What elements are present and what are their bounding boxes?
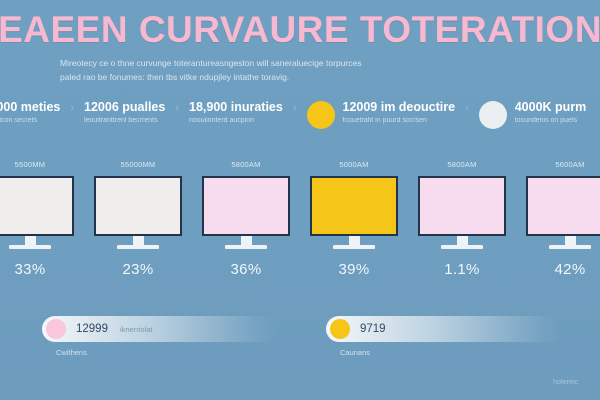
monitor-item: 5500MM 33% (0, 160, 78, 278)
summary-pill-row: 12999 iknerriolat Cwithens 9719 Caunans (42, 316, 562, 357)
chevron-right-icon: › (465, 102, 469, 114)
monitor-percent: 36% (231, 261, 262, 278)
stats-row: 1,000 meties tentitcon secrets › 12006 p… (0, 100, 600, 129)
monitor-label: 5500MM (15, 160, 45, 169)
summary-pill-group: 12999 iknerriolat Cwithens (42, 316, 278, 357)
stat-value: 4000K purm (515, 100, 587, 115)
stat-label: noouiionterd aucpion (189, 116, 283, 126)
chevron-right-icon: › (70, 102, 74, 114)
monitor-neck (457, 236, 468, 245)
summary-pill: 12999 iknerriolat (42, 316, 278, 342)
monitor-icon (202, 176, 290, 249)
stat-value: 12006 pualles (84, 100, 165, 115)
monitor-item: 55000MM 23% (90, 160, 186, 278)
monitor-base (549, 245, 591, 249)
page-subtitle: Mireotecy ce o thne curvunge toteranture… (60, 56, 540, 84)
monitor-neck (565, 236, 576, 245)
monitor-neck (241, 236, 252, 245)
chevron-right-icon: › (293, 102, 297, 114)
monitor-base (333, 245, 375, 249)
stat-item: 12006 pualles leouitranttrenl becrrents (84, 100, 165, 126)
stat-item: 12009 im deouctire fcouetrafit in puurd … (307, 100, 456, 129)
stat-text: 1,000 meties tentitcon secrets (0, 100, 60, 126)
monitor-screen (0, 176, 74, 236)
stat-label: tentitcon secrets (0, 116, 60, 126)
white-circle-icon (479, 101, 507, 129)
pill-caption: Caunans (340, 348, 562, 357)
monitor-item: 5800AM 36% (198, 160, 294, 278)
pill-value: 9719 (360, 323, 386, 335)
chevron-right-icon: › (175, 102, 179, 114)
pink-circle-icon (46, 319, 66, 339)
monitor-screen (202, 176, 290, 236)
monitor-base (225, 245, 267, 249)
pill-note: iknerriolat (120, 325, 153, 334)
stat-text: 18,900 inuraties noouiionterd aucpion (189, 100, 283, 126)
yellow-circle-icon (330, 319, 350, 339)
monitor-item: 5800AM 1.1% (414, 160, 510, 278)
monitor-percent: 23% (123, 261, 154, 278)
monitor-percent: 42% (555, 261, 586, 278)
monitor-label: 5000AM (339, 160, 368, 169)
monitor-base (9, 245, 51, 249)
subtitle-line-2: paled rao be fonumes: then tbs vitke ndu… (60, 70, 540, 84)
pill-caption: Cwithens (56, 348, 278, 357)
monitor-icon (310, 176, 398, 249)
footer-text: hofereic (553, 379, 578, 386)
monitor-neck (25, 236, 36, 245)
yellow-circle-icon (307, 101, 335, 129)
monitor-base (441, 245, 483, 249)
summary-pill: 9719 (326, 316, 562, 342)
stat-text: 12009 im deouctire fcouetrafit in puurd … (343, 100, 456, 126)
infographic-canvas: EAEEN CURVAURE TOTERATION Mireotecy ce o… (0, 0, 600, 400)
monitor-screen (310, 176, 398, 236)
stat-value: 18,900 inuraties (189, 100, 283, 115)
monitor-icon (418, 176, 506, 249)
stat-item: 1,000 meties tentitcon secrets (0, 100, 60, 126)
monitor-label: 5800AM (231, 160, 260, 169)
monitor-label: 5600AM (555, 160, 584, 169)
stat-label: tocundenis on puels (515, 116, 587, 126)
stat-item: 18,900 inuraties noouiionterd aucpion (189, 100, 283, 126)
monitor-percent: 33% (15, 261, 46, 278)
monitor-icon (526, 176, 600, 249)
stat-label: fcouetrafit in puurd socrsen (343, 116, 456, 126)
monitor-item: 5000AM 39% (306, 160, 402, 278)
stat-text: 4000K purm tocundenis on puels (515, 100, 587, 126)
monitor-base (117, 245, 159, 249)
monitor-percent: 39% (339, 261, 370, 278)
page-title: EAEEN CURVAURE TOTERATION (0, 8, 600, 52)
stat-value: 12009 im deouctire (343, 100, 456, 115)
stat-item: 4000K purm tocundenis on puels (479, 100, 587, 129)
stat-text: 12006 pualles leouitranttrenl becrrents (84, 100, 165, 126)
monitor-icon (94, 176, 182, 249)
monitor-chart-row: 5500MM 33% 55000MM 23% 5800AM (0, 160, 600, 278)
monitor-screen (94, 176, 182, 236)
subtitle-line-1: Mireotecy ce o thne curvunge toteranture… (60, 56, 540, 70)
monitor-screen (418, 176, 506, 236)
summary-pill-group: 9719 Caunans (326, 316, 562, 357)
pill-value: 12999 (76, 323, 108, 335)
stat-value: 1,000 meties (0, 100, 60, 115)
stat-label: leouitranttrenl becrrents (84, 116, 165, 126)
monitor-label: 5800AM (447, 160, 476, 169)
monitor-neck (133, 236, 144, 245)
monitor-item: 5600AM 42% (522, 160, 600, 278)
monitor-icon (0, 176, 74, 249)
monitor-label: 55000MM (121, 160, 156, 169)
monitor-neck (349, 236, 360, 245)
monitor-screen (526, 176, 600, 236)
monitor-percent: 1.1% (444, 261, 479, 278)
